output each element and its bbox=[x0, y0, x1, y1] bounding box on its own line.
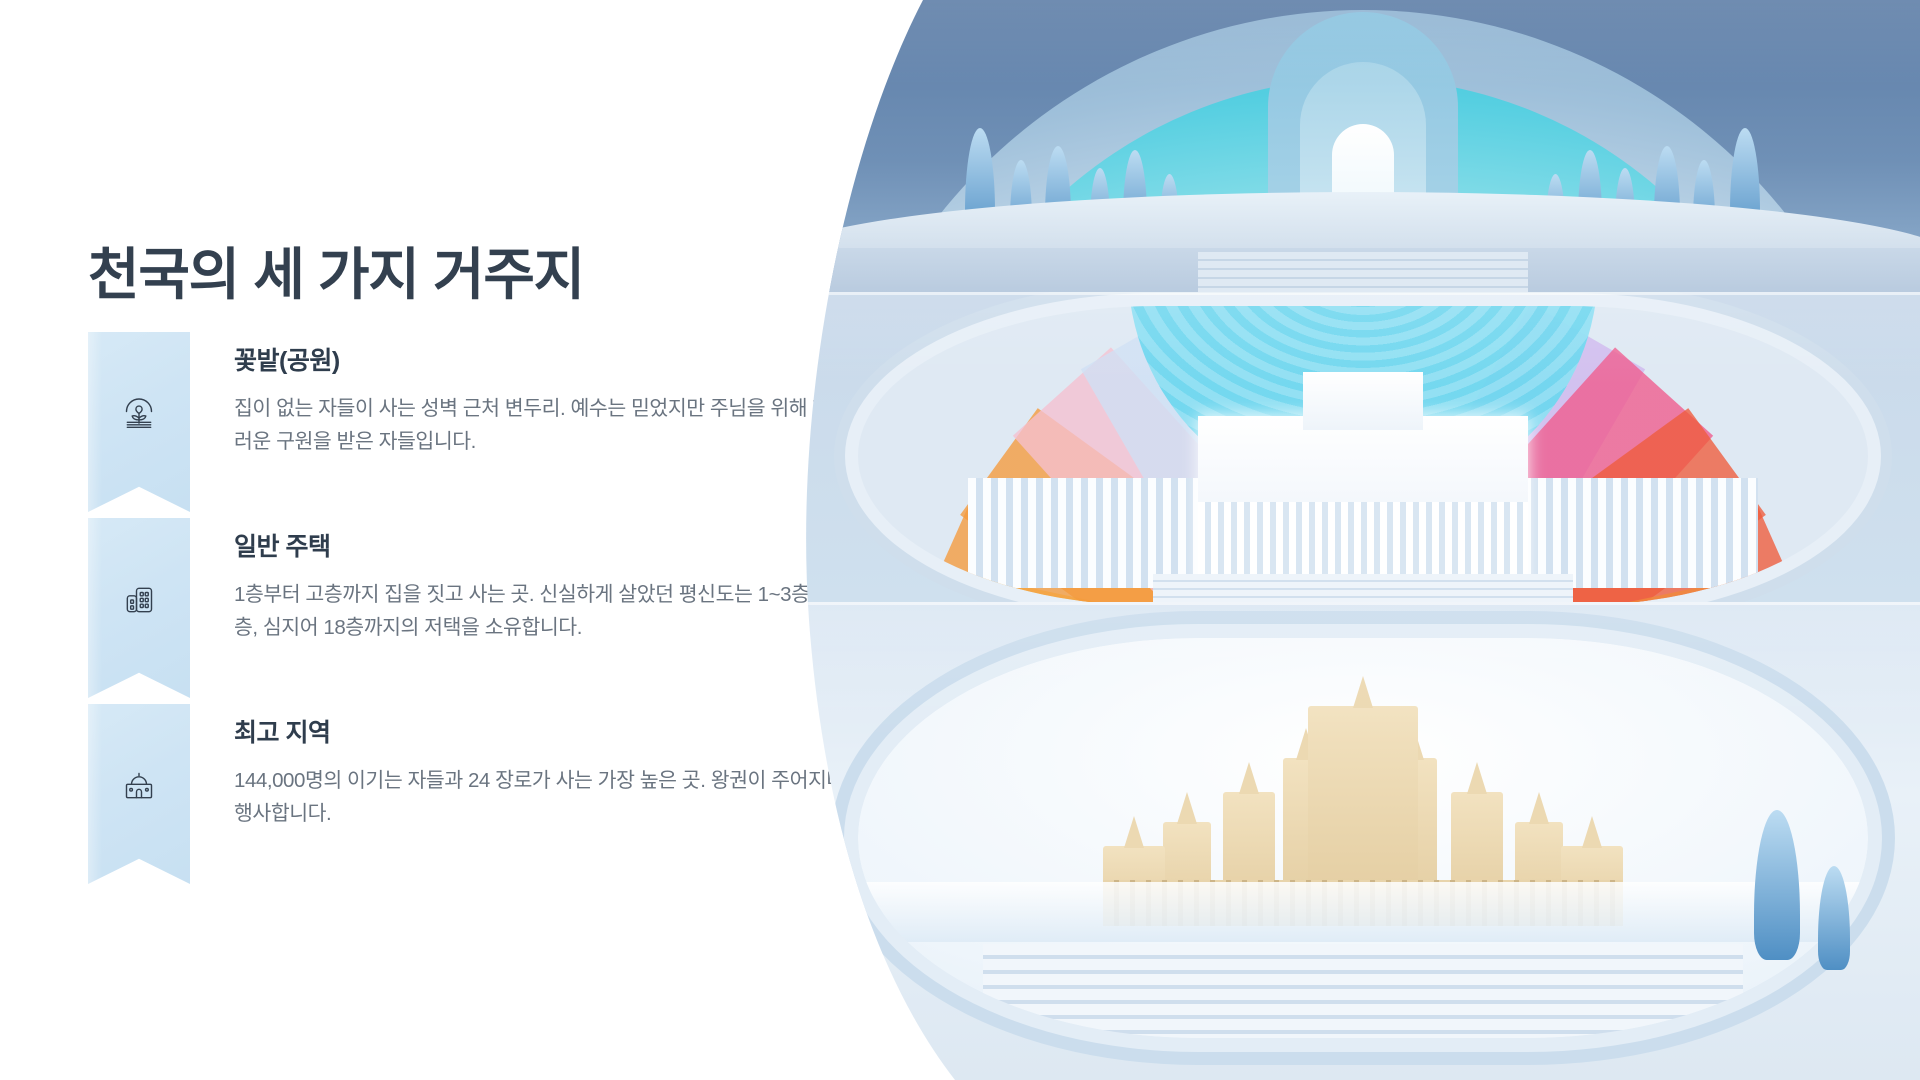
slide-root: 천국의 세 가지 거주지 bbox=[0, 0, 1920, 1080]
page-title: 천국의 세 가지 거주지 bbox=[88, 243, 584, 307]
golden-palace-render bbox=[805, 602, 1920, 1080]
flower-garden-icon bbox=[88, 394, 190, 434]
rainbow-palace-render bbox=[805, 292, 1920, 602]
artwork-pane bbox=[805, 0, 1920, 1080]
badge-banner-3 bbox=[88, 704, 190, 884]
badge-banner-1 bbox=[88, 332, 190, 512]
blue-arch-garden-render bbox=[805, 0, 1920, 292]
domed-palace-icon bbox=[88, 766, 190, 806]
apartment-buildings-icon bbox=[88, 580, 190, 620]
badge-banner-2 bbox=[88, 518, 190, 698]
